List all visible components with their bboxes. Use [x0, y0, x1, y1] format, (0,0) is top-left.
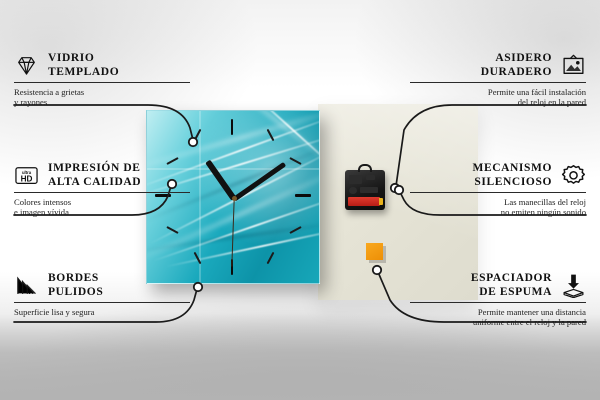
feature-description: Permite una fácil instalación del reloj …: [410, 87, 586, 108]
feature-divider: [14, 302, 190, 303]
feature-divider: [410, 192, 586, 193]
feature-title-line2: SILENCIOSO: [472, 176, 552, 190]
feature-description: Resistencia a grietas y rayones: [14, 87, 190, 108]
feature-divider: [14, 192, 190, 193]
feature-title-line1: MECANISMO: [472, 162, 552, 176]
feature-desc-line2: y rayones: [14, 97, 190, 107]
feature-title-line2: DURADERO: [481, 66, 552, 80]
feature-title-line2: ALTA CALIDAD: [48, 176, 141, 190]
feature-header: VIDRIO TEMPLADO: [14, 52, 190, 79]
feature-description: Las manecillas del reloj no emiten ningú…: [410, 197, 586, 218]
picture-hanger-icon: [561, 53, 586, 78]
clock-center-cap: [232, 196, 237, 201]
feature-title-line2: PULIDOS: [48, 286, 103, 300]
feature-desc-line1: Las manecillas del reloj: [410, 197, 586, 207]
feature-title: ESPACIADOR DE ESPUMA: [471, 272, 552, 299]
feature-title: MECANISMO SILENCIOSO: [472, 162, 552, 189]
feature-bordes-pulidos[interactable]: BORDES PULIDOS Superficie lisa y segura: [14, 272, 190, 317]
feature-title-line1: IMPRESIÓN DE: [48, 162, 141, 176]
feature-asidero-duradero[interactable]: ASIDERO DURADERO Permite una fácil insta…: [410, 52, 586, 108]
feature-description: Colores intensos e imagen vívida: [14, 197, 190, 218]
feature-vidrio-templado[interactable]: VIDRIO TEMPLADO Resistencia a grietas y …: [14, 52, 190, 108]
diamond-icon: [14, 53, 39, 78]
feature-title-line1: ASIDERO: [481, 52, 552, 66]
feature-desc-line2: e imagen vívida: [14, 207, 190, 217]
feature-impresion-alta-calidad[interactable]: ultra HD IMPRESIÓN DE ALTA CALIDAD Color…: [14, 162, 190, 218]
feature-mecanismo-silencioso[interactable]: MECANISMO SILENCIOSO Las manecillas del …: [410, 162, 586, 218]
feature-header: ASIDERO DURADERO: [410, 52, 586, 79]
clock-tick-12: [231, 119, 233, 135]
feature-divider: [14, 82, 190, 83]
feature-title-line1: ESPACIADOR: [471, 272, 552, 286]
feature-header: ultra HD IMPRESIÓN DE ALTA CALIDAD: [14, 162, 190, 189]
foam-spacer-part: [366, 243, 383, 260]
clock-tick-3: [295, 194, 311, 197]
feature-title-line2: TEMPLADO: [48, 66, 119, 80]
feature-title: VIDRIO TEMPLADO: [48, 52, 119, 79]
ultra-hd-icon: ultra HD: [14, 163, 39, 188]
feature-title: BORDES PULIDOS: [48, 272, 103, 299]
svg-text:HD: HD: [21, 174, 33, 183]
feature-header: MECANISMO SILENCIOSO: [410, 162, 586, 189]
feature-desc-line1: Colores intensos: [14, 197, 190, 207]
mechanism-battery: [348, 197, 380, 206]
mechanism-hanger: [358, 164, 372, 172]
feature-description: Permite mantener una distancia uniforme …: [410, 307, 586, 328]
feature-title-line1: BORDES: [48, 272, 103, 286]
feature-desc-line2: no emiten ningún sonido: [410, 207, 586, 217]
feature-title-line2: DE ESPUMA: [471, 286, 552, 300]
feature-desc-line1: Resistencia a grietas: [14, 87, 190, 97]
gear-icon: [561, 163, 586, 188]
feature-header: ESPACIADOR DE ESPUMA: [410, 272, 586, 299]
feature-desc-line2: del reloj en la pared: [410, 97, 586, 107]
feature-desc-line2: uniforme entre el reloj y la pared: [410, 317, 586, 327]
feature-title-line1: VIDRIO: [48, 52, 119, 66]
feature-header: BORDES PULIDOS: [14, 272, 190, 299]
clock-mechanism: [345, 170, 385, 210]
feature-desc-line1: Superficie lisa y segura: [14, 307, 190, 317]
feature-title: IMPRESIÓN DE ALTA CALIDAD: [48, 162, 141, 189]
feature-description: Superficie lisa y segura: [14, 307, 190, 317]
feature-divider: [410, 82, 586, 83]
feature-desc-line1: Permite mantener una distancia: [410, 307, 586, 317]
feature-desc-line1: Permite una fácil instalación: [410, 87, 586, 97]
feature-title: ASIDERO DURADERO: [481, 52, 552, 79]
feature-espaciador-espuma[interactable]: ESPACIADOR DE ESPUMA Permite mantener un…: [410, 272, 586, 328]
feature-divider: [410, 302, 586, 303]
polished-edges-icon: [14, 273, 39, 298]
foam-spacer-icon: [561, 273, 586, 298]
